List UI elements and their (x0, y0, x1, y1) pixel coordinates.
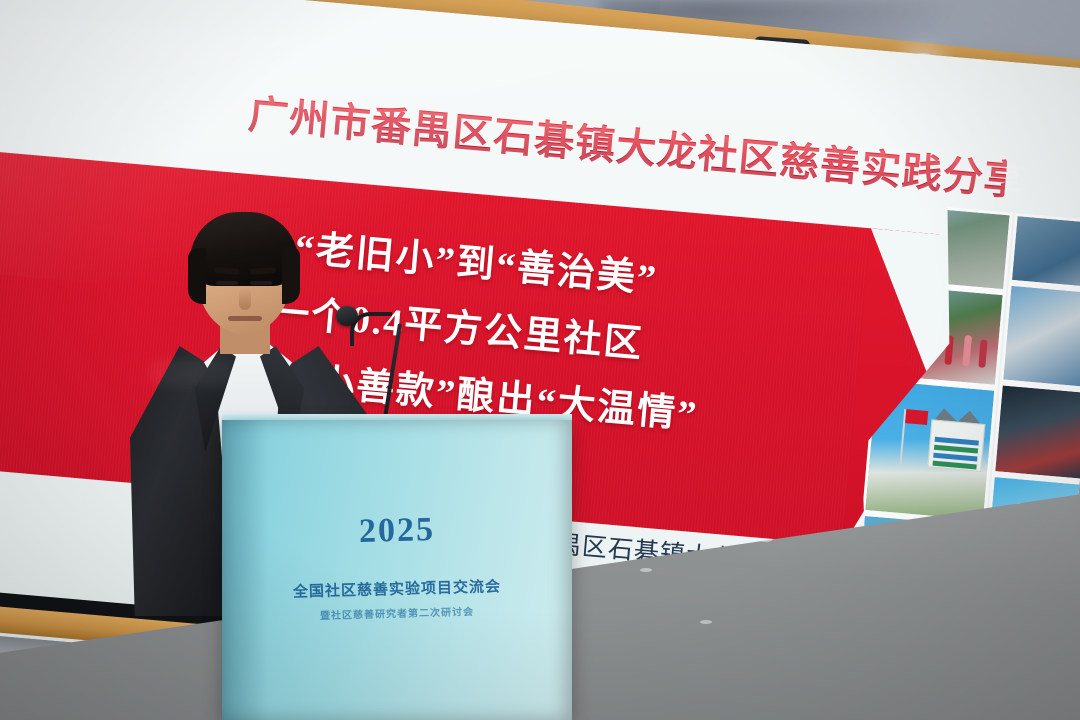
hair-side-left (188, 248, 206, 304)
hair-side-right (282, 246, 300, 304)
mouth (228, 316, 262, 321)
eye-right (250, 281, 272, 285)
podium: 2025 全国社区慈善实验项目交流会 暨社区慈善研究者第二次研讨会 (222, 420, 572, 720)
presentation-photo: 广州市番禺区石碁镇大龙社区慈善实践分享 从“老旧小”到“善治美” 一个0.4平方… (0, 0, 1080, 720)
shoulder-highlight (148, 360, 234, 386)
nose (239, 288, 251, 310)
podium-event-subtitle: 暨社区慈善研究者第二次研讨会 (222, 600, 572, 624)
eye-left (216, 281, 238, 285)
collage-photo (1009, 213, 1080, 291)
podium-shading (222, 420, 268, 720)
collage-photo (992, 382, 1080, 482)
national-flag-icon (905, 409, 928, 425)
microphone-head-icon (336, 306, 358, 326)
podium-year: 2025 (222, 507, 573, 554)
village-signboard (927, 419, 985, 472)
collage-photo (1000, 283, 1080, 391)
podium-event-title: 全国社区慈善实验项目交流会 (222, 573, 572, 603)
